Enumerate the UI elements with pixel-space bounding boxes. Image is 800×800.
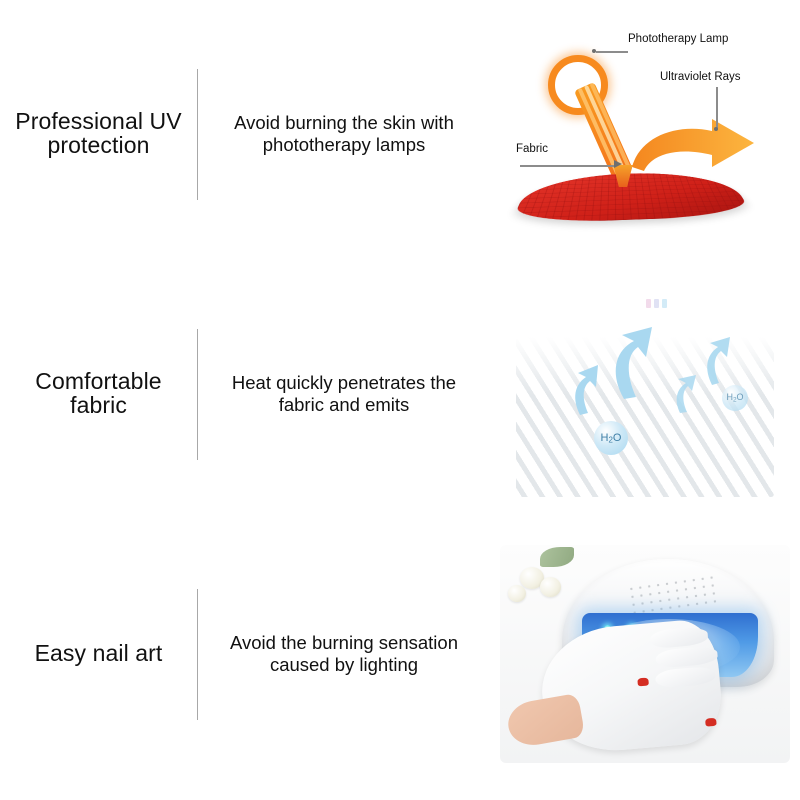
airflow-arrow-icon <box>568 363 602 415</box>
h2o-text: H2O <box>601 432 622 445</box>
airflow-arrow-icon <box>700 335 734 385</box>
feature-description: Avoid burning the skin with phototherapy… <box>198 112 490 156</box>
feature-media-cell <box>490 538 800 770</box>
label-phototherapy-lamp: Phototherapy Lamp <box>628 33 728 45</box>
leader-dot <box>592 49 596 53</box>
dot <box>646 299 651 308</box>
breathable-fabric-weave: H2O H2O <box>500 285 790 503</box>
decorative-dots <box>646 299 667 308</box>
h2o-droplet-label: H2O <box>722 385 748 411</box>
feature-heading: Easy nail art <box>29 642 169 666</box>
flower <box>508 585 526 602</box>
airflow-arrow-icon <box>670 373 698 413</box>
deflected-uv-arrow-icon <box>628 117 756 173</box>
feature-row: Comfortable fabric Heat quickly penetrat… <box>0 278 800 510</box>
leader-dot <box>714 127 718 131</box>
feature-description: Avoid the burning sensation caused by li… <box>198 632 490 676</box>
feature-heading-cell: Professional UV protection <box>0 18 197 250</box>
label-ultraviolet-rays: Ultraviolet Rays <box>660 71 741 83</box>
feature-description-cell: Heat quickly penetrates the fabric and e… <box>198 278 490 510</box>
feature-row: Easy nail art Avoid the burning sensatio… <box>0 538 800 770</box>
dot <box>662 299 667 308</box>
feature-media-cell: H2O H2O <box>490 278 800 510</box>
leader-line <box>716 87 718 129</box>
glove-finger <box>649 626 708 649</box>
airflow-arrow-icon <box>608 325 656 399</box>
painted-nail <box>637 677 649 686</box>
feature-description-cell: Avoid the burning sensation caused by li… <box>198 538 490 770</box>
feature-row: Professional UV protection Avoid burning… <box>0 18 800 250</box>
leader-line <box>520 165 616 167</box>
uv-glove-in-nail-lamp-photo <box>500 545 790 763</box>
feature-heading: Professional UV protection <box>0 110 197 158</box>
painted-nail <box>705 718 717 727</box>
feature-heading-cell: Comfortable fabric <box>0 278 197 510</box>
flower <box>540 577 561 597</box>
leader-line <box>596 51 628 53</box>
feature-heading: Comfortable fabric <box>0 370 197 418</box>
glove-finger <box>655 645 718 668</box>
feature-description: Heat quickly penetrates the fabric and e… <box>198 372 490 416</box>
label-fabric: Fabric <box>516 143 548 155</box>
wrist-skin <box>505 693 586 749</box>
phototherapy-lamp-diagram: Phototherapy Lamp Ultraviolet Rays Fabri… <box>500 25 790 243</box>
red-fabric-sheet <box>510 171 753 224</box>
feature-heading-cell: Easy nail art <box>0 538 197 770</box>
glove-finger <box>655 666 716 689</box>
h2o-droplet-label: H2O <box>594 421 628 455</box>
h2o-text: H2O <box>726 392 743 403</box>
dot <box>654 299 659 308</box>
leader-arrowhead <box>614 160 622 168</box>
feature-media-cell: Phototherapy Lamp Ultraviolet Rays Fabri… <box>490 18 800 250</box>
feature-description-cell: Avoid burning the skin with phototherapy… <box>198 18 490 250</box>
